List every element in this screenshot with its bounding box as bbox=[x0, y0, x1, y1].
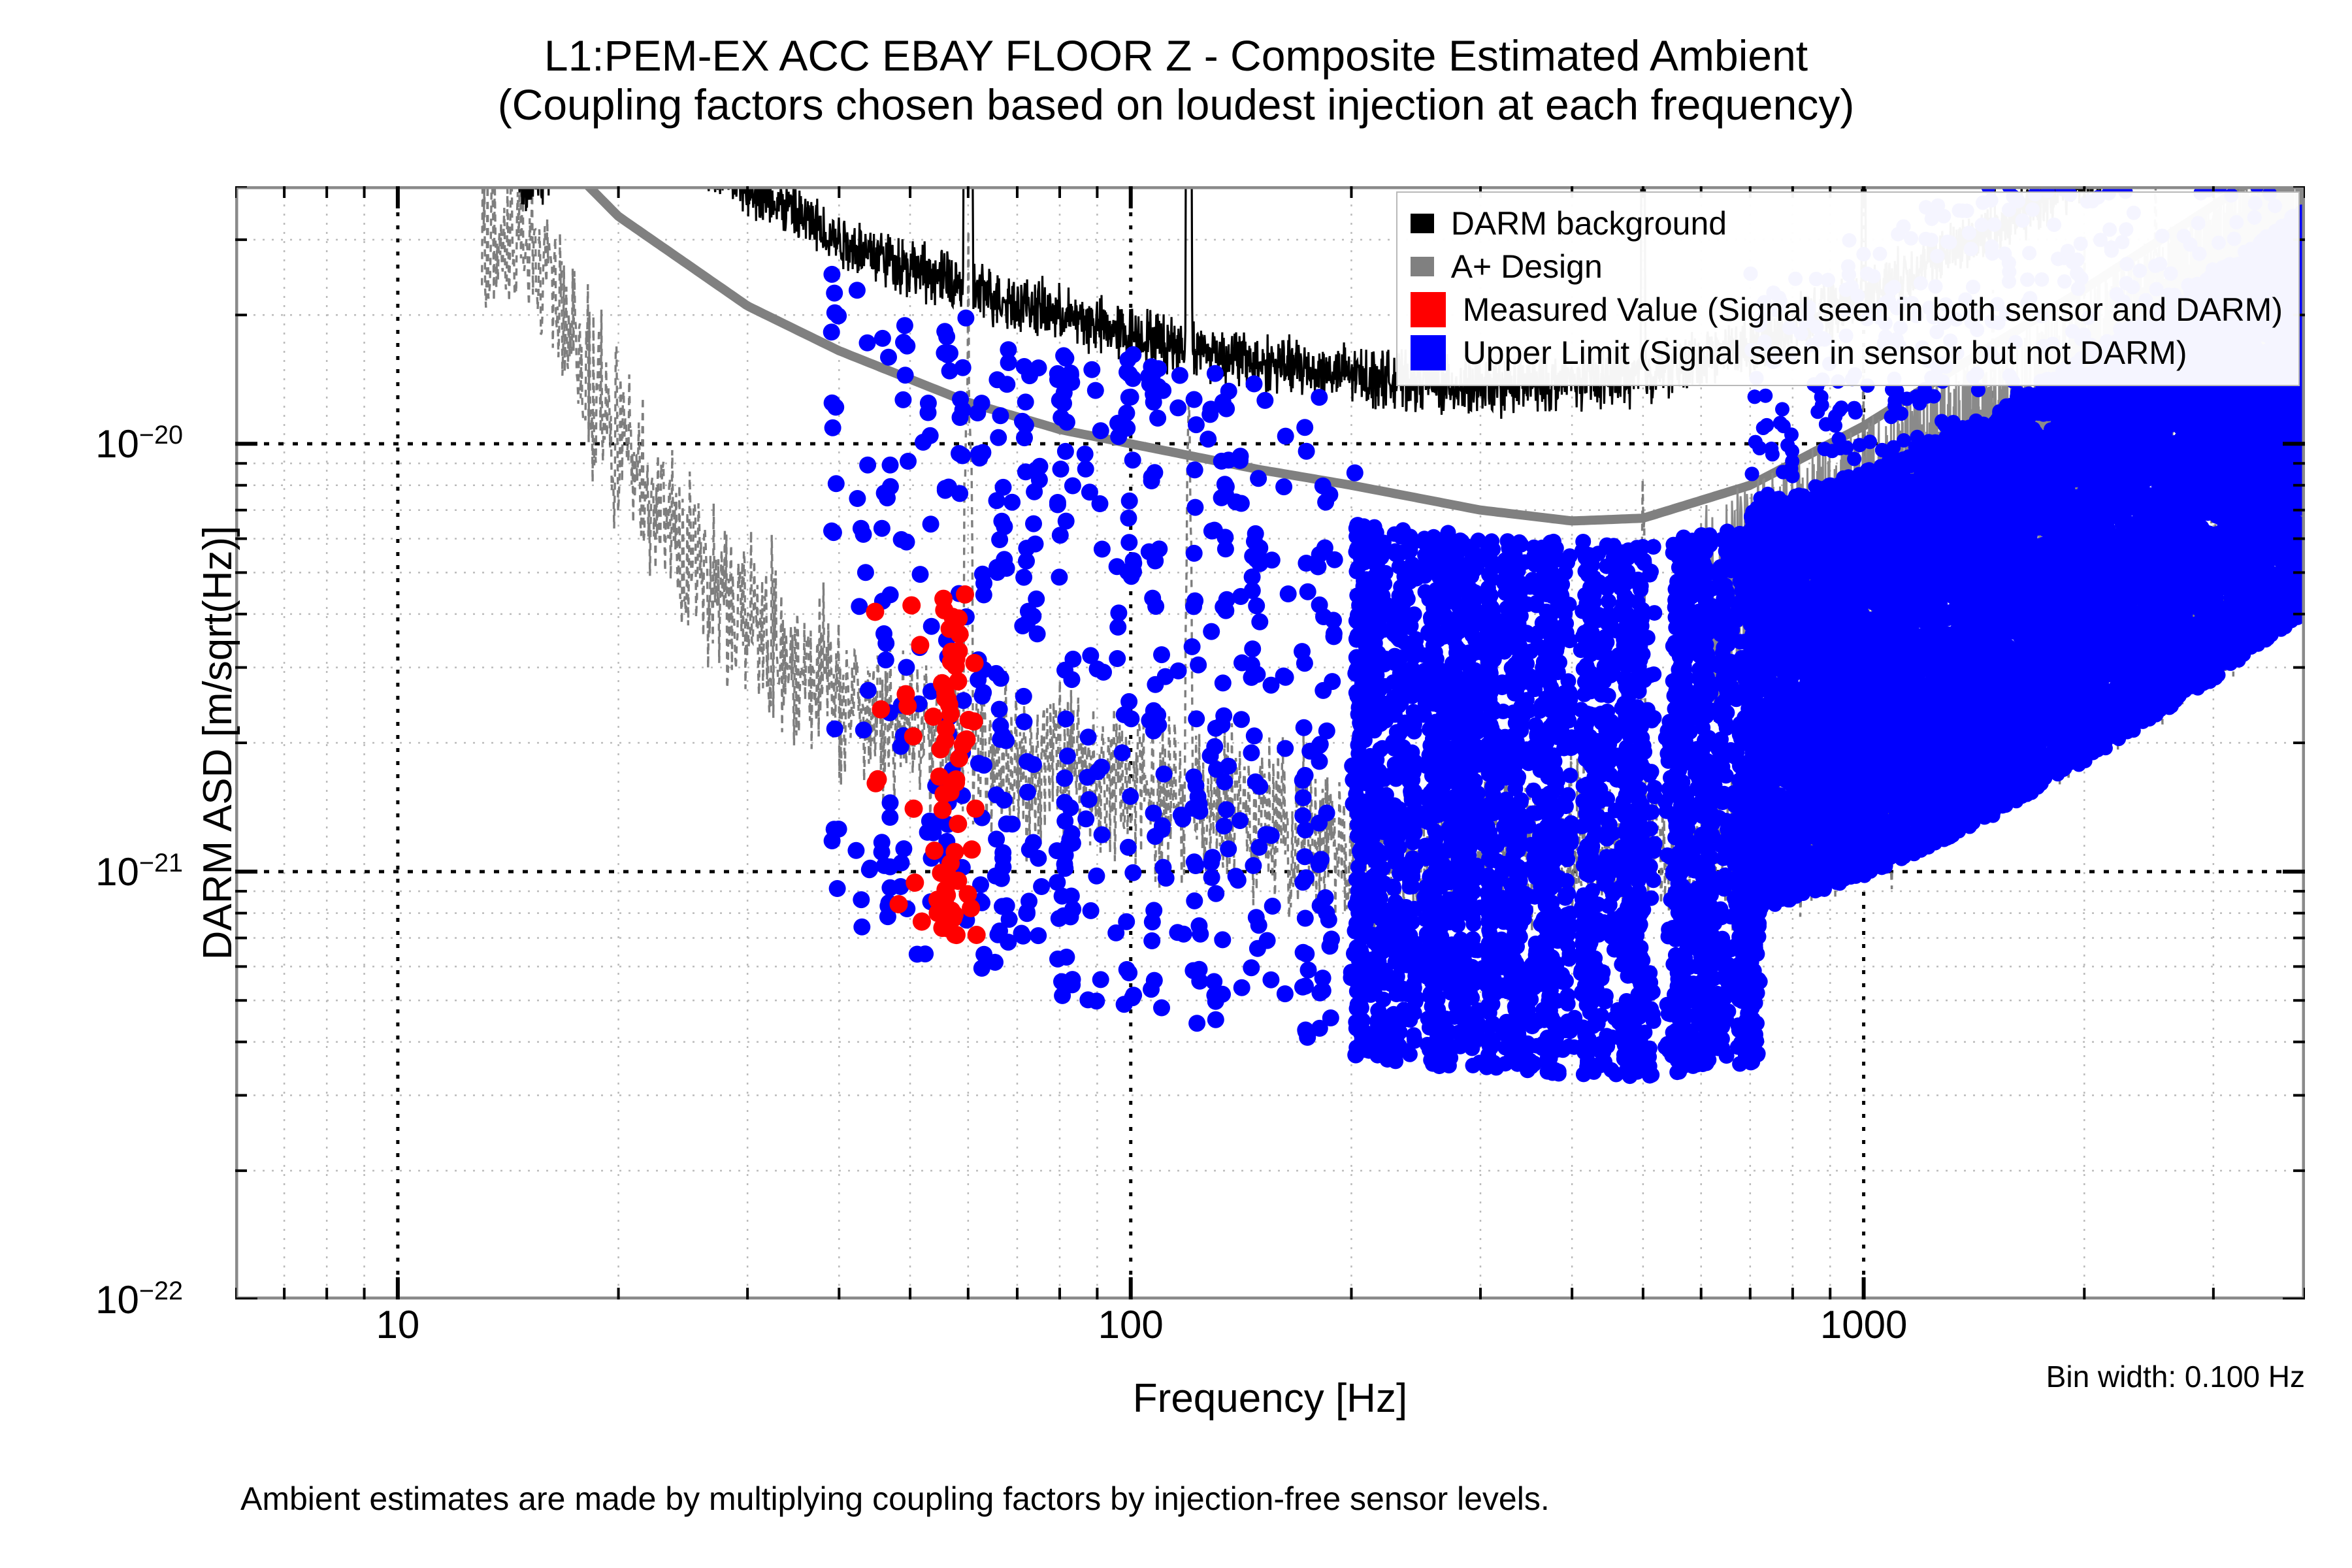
title-line-1: L1:PEM-EX ACC EBAY FLOOR Z - Composite E… bbox=[0, 31, 2352, 80]
x-tick-0: 10 bbox=[376, 1302, 420, 1347]
legend-label-upper-limit: Upper Limit (Signal seen in sensor but n… bbox=[1463, 334, 2187, 372]
legend-swatch-upper-limit bbox=[1411, 335, 1446, 370]
bin-width-annotation: Bin width: 0.100 Hz bbox=[2046, 1359, 2305, 1394]
legend-item-darm-background[interactable]: DARM background bbox=[1411, 202, 2283, 245]
y-tick-2: 10−20 bbox=[95, 421, 183, 466]
legend-label-a-plus-design: A+ Design bbox=[1451, 248, 1603, 286]
figure-caption: Ambient estimates are made by multiplyin… bbox=[240, 1480, 1550, 1518]
legend-item-upper-limit[interactable]: Upper Limit (Signal seen in sensor but n… bbox=[1411, 331, 2283, 374]
figure-root: L1:PEM-EX ACC EBAY FLOOR Z - Composite E… bbox=[0, 0, 2352, 1568]
x-axis-title: Frequency [Hz] bbox=[235, 1375, 2305, 1422]
plot-area: DARM ASD [m/sqrt(Hz)] Frequency [Hz] 10−… bbox=[235, 186, 2305, 1299]
y-axis-title: DARM ASD [m/sqrt(Hz)] bbox=[188, 186, 247, 1299]
legend-label-darm-background: DARM background bbox=[1451, 204, 1727, 242]
y-tick-1: 10−21 bbox=[95, 849, 183, 894]
legend-item-a-plus-design[interactable]: A+ Design bbox=[1411, 245, 2283, 288]
legend-item-measured-value[interactable]: Measured Value (Signal seen in both sens… bbox=[1411, 288, 2283, 331]
legend-swatch-darm-background bbox=[1411, 214, 1434, 233]
y-tick-0: 10−22 bbox=[95, 1277, 183, 1322]
legend-swatch-measured-value bbox=[1411, 292, 1446, 327]
legend-swatch-a-plus-design bbox=[1411, 257, 1434, 276]
figure-title: L1:PEM-EX ACC EBAY FLOOR Z - Composite E… bbox=[0, 31, 2352, 129]
x-tick-2: 1000 bbox=[1820, 1302, 1907, 1347]
legend-label-measured-value: Measured Value (Signal seen in both sens… bbox=[1463, 291, 2283, 329]
chart-legend: DARM background A+ Design Measured Value… bbox=[1396, 191, 2300, 386]
x-tick-1: 100 bbox=[1098, 1302, 1164, 1347]
title-line-2: (Coupling factors chosen based on loudes… bbox=[0, 80, 2352, 129]
